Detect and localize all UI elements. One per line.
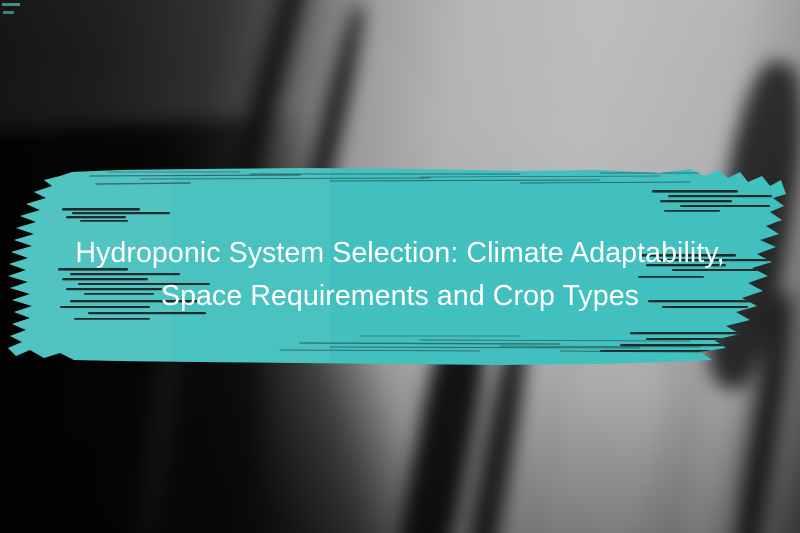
brush-stroke-body [0,150,800,380]
hero-banner: Hydroponic System Selection: Climate Ada… [0,0,800,533]
brush-stroke-banner [0,150,800,380]
brush-stroke-icon [0,150,800,380]
corner-speck-mark [3,11,14,14]
corner-speck-mark [2,3,20,6]
